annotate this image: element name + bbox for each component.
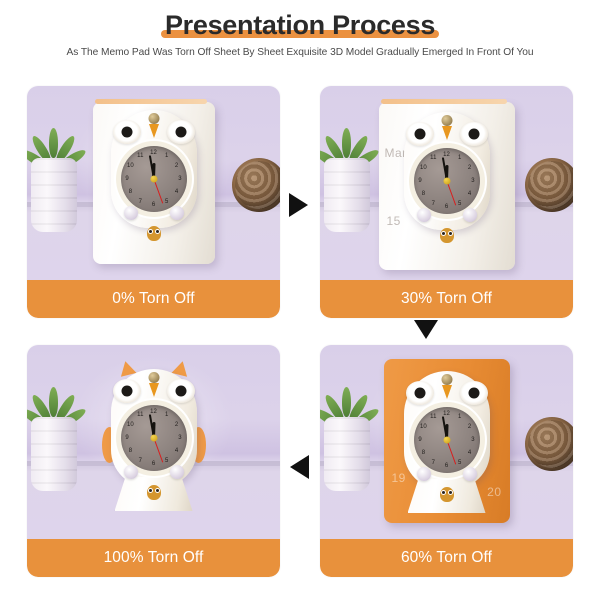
pad-label-day: 15 [387,214,401,228]
clock-center-hub [443,437,450,444]
arrow-right-icon [289,193,308,217]
owl-beak [442,126,452,140]
page-header: Presentation Process As The Memo Pad Was… [0,0,600,58]
page-title: Presentation Process [159,9,441,41]
clock-dial: 12 1 2 3 4 5 6 7 8 9 10 11 [414,407,480,473]
owl-foot-left [124,465,138,479]
panel-30-percent[interactable]: March 15 12 1 2 3 4 5 [320,86,573,318]
owl-decal-icon [145,223,163,243]
panel-caption-100: 100% Torn Off [27,539,280,577]
plant-pot [324,158,370,232]
product-photo-60: 19 20 12 1 2 3 4 5 6 [320,345,573,539]
succulent-plant [29,371,81,491]
owl-decal-icon [438,225,456,245]
owl-clock-product-0: 12 1 2 3 4 5 6 7 8 9 10 11 [89,92,219,272]
arrow-left-icon [290,455,309,479]
panel-caption-60: 60% Torn Off [320,539,573,577]
owl-eye-right [167,379,195,403]
arrow-down-icon [414,320,438,339]
owl-eye-left [406,381,434,405]
owl-foot-right [170,206,184,220]
owl-foot-right [463,208,477,222]
plant-pot [324,417,370,491]
memo-pad-top-edge [381,99,507,104]
owl-beak [442,385,452,399]
product-photo-0: 12 1 2 3 4 5 6 7 8 9 10 11 [27,86,280,280]
pine-cone [232,158,280,212]
bell-knob-icon [148,372,159,383]
pine-cone [525,158,573,212]
clock-second-hand [153,438,163,463]
panel-caption-30: 30% Torn Off [320,280,573,318]
owl-beak [149,124,159,138]
clock-second-hand [446,181,456,206]
owl-clock-product-100: 12 1 2 3 4 5 6 7 8 9 10 11 [94,359,214,529]
bell-knob-icon [441,115,452,126]
plant-pot [31,417,77,491]
panel-grid: 12 1 2 3 4 5 6 7 8 9 10 11 [0,80,600,600]
clock-center-hub [150,176,157,183]
owl-decal-icon [145,482,163,502]
succulent-plant [29,112,81,232]
owl-beak [149,383,159,397]
pine-cone [525,417,573,471]
pad-label-19: 19 [392,471,406,485]
panel-100-percent[interactable]: 12 1 2 3 4 5 6 7 8 9 10 11 [27,345,280,577]
owl-decal-icon [438,484,456,504]
product-photo-100: 12 1 2 3 4 5 6 7 8 9 10 11 [27,345,280,539]
clock-dial: 12 1 2 3 4 5 6 7 8 9 10 11 [414,148,480,214]
owl-foot-left [417,208,431,222]
owl-eye-left [113,379,141,403]
owl-clock-product-30: March 15 12 1 2 3 4 5 [377,92,517,272]
owl-foot-left [124,206,138,220]
clock-second-hand [446,440,456,465]
bell-knob-icon [148,113,159,124]
panel-caption-0: 0% Torn Off [27,280,280,318]
owl-clock-product-60: 19 20 12 1 2 3 4 5 6 [377,351,517,531]
owl-foot-right [170,465,184,479]
succulent-plant [322,371,374,491]
owl-eye-right [460,381,488,405]
clock-dial: 12 1 2 3 4 5 6 7 8 9 10 11 [121,405,187,471]
clock-center-hub [150,435,157,442]
product-photo-30: March 15 12 1 2 3 4 5 [320,86,573,280]
owl-eye-left [113,120,141,144]
owl-eye-left [406,122,434,146]
bell-knob-icon [441,374,452,385]
clock-dial: 12 1 2 3 4 5 6 7 8 9 10 11 [121,146,187,212]
owl-foot-right [463,467,477,481]
owl-foot-left [417,467,431,481]
succulent-plant [322,112,374,232]
plant-pot [31,158,77,232]
owl-eye-right [460,122,488,146]
panel-0-percent[interactable]: 12 1 2 3 4 5 6 7 8 9 10 11 [27,86,280,318]
pad-label-20: 20 [487,485,501,499]
page-subtitle: As The Memo Pad Was Torn Off Sheet By Sh… [0,47,600,58]
clock-second-hand [153,179,163,204]
owl-eye-right [167,120,195,144]
page-title-text: Presentation Process [165,10,435,40]
clock-center-hub [443,178,450,185]
memo-pad-top-edge [95,99,207,104]
panel-60-percent[interactable]: 19 20 12 1 2 3 4 5 6 [320,345,573,577]
